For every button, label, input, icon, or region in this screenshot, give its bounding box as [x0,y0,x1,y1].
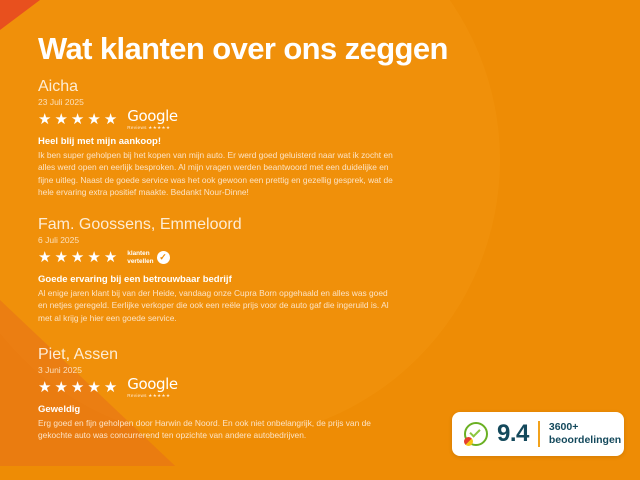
rating-text-group: 3600+ beoordelingen [549,421,621,446]
google-reviews-sublabel: Reviews ★★★★★ [127,393,170,399]
review-body: Erg goed en fijn geholpen door Harwin de… [38,417,398,442]
star-icon: ★ [38,112,51,127]
kv-line-2: vertellen [127,258,153,265]
page-title: Wat klanten over ons zeggen [38,31,448,67]
review-title: Goede ervaring bij een betrouwbaar bedri… [38,274,398,285]
review-date: 3 Juni 2025 [38,365,398,375]
star-icon: ★ [38,380,51,395]
review-body: Ik ben super geholpen bij het kopen van … [38,149,398,199]
google-reviews-logo: Google Reviews ★★★★★ [127,109,178,131]
star-icon: ★ [87,380,100,395]
google-wordmark: Google [127,377,178,392]
reviewer-name: Aicha [38,78,398,96]
reviewer-name: Fam. Goossens, Emmeloord [38,216,398,234]
content-layer: Wat klanten over ons zeggen Aicha 23 Jul… [0,0,640,480]
review-title: Geweldig [38,404,398,415]
rating-badge: 9.4 3600+ beoordelingen [452,412,624,456]
kiyoh-check-icon [464,422,488,446]
star-icon: ★ [54,250,67,265]
check-glyph: ✓ [159,253,167,262]
review-title: Heel blij met mijn aankoop! [38,136,398,147]
review-body: Al enige jaren klant bij van der Heide, … [38,287,398,325]
star-icon: ★ [104,380,117,395]
star-rating: ★ ★ ★ ★ ★ [38,380,117,395]
verified-check-icon: ✓ [157,251,170,264]
google-wordmark: Google [127,109,178,124]
review-card-1: Aicha 23 Juli 2025 ★ ★ ★ ★ ★ Google Revi… [38,78,398,199]
kv-line-1: klanten [127,250,153,257]
review-meta-row: ★ ★ ★ ★ ★ klanten vertellen ✓ [38,248,398,268]
star-icon: ★ [54,112,67,127]
google-reviews-logo: Google Reviews ★★★★★ [127,377,178,399]
star-icon: ★ [38,250,51,265]
review-meta-row: ★ ★ ★ ★ ★ Google Reviews ★★★★★ [38,110,398,130]
star-rating: ★ ★ ★ ★ ★ [38,250,117,265]
rating-score: 9.4 [497,422,529,446]
star-icon: ★ [71,380,84,395]
review-poster: VDH Wat klanten over ons zeggen Aicha 23… [0,0,640,480]
star-icon: ★ [104,250,117,265]
star-icon: ★ [71,250,84,265]
klantenvertellen-wordmark: klanten vertellen [127,250,153,265]
review-date: 6 Juli 2025 [38,235,398,245]
review-card-2: Fam. Goossens, Emmeloord 6 Juli 2025 ★ ★… [38,216,398,324]
review-card-3: Piet, Assen 3 Juni 2025 ★ ★ ★ ★ ★ Google… [38,346,398,442]
star-icon: ★ [54,380,67,395]
rating-label: beoordelingen [549,434,621,447]
google-reviews-sublabel: Reviews ★★★★★ [127,125,170,131]
star-icon: ★ [104,112,117,127]
star-icon: ★ [87,112,100,127]
rating-divider [538,421,540,447]
star-icon: ★ [71,112,84,127]
reviewer-name: Piet, Assen [38,346,398,364]
review-date: 23 Juli 2025 [38,97,398,107]
klantenvertellen-logo: klanten vertellen ✓ [127,250,169,265]
star-icon: ★ [87,250,100,265]
review-meta-row: ★ ★ ★ ★ ★ Google Reviews ★★★★★ [38,378,398,398]
rating-count: 3600+ [549,421,621,434]
star-rating: ★ ★ ★ ★ ★ [38,112,117,127]
